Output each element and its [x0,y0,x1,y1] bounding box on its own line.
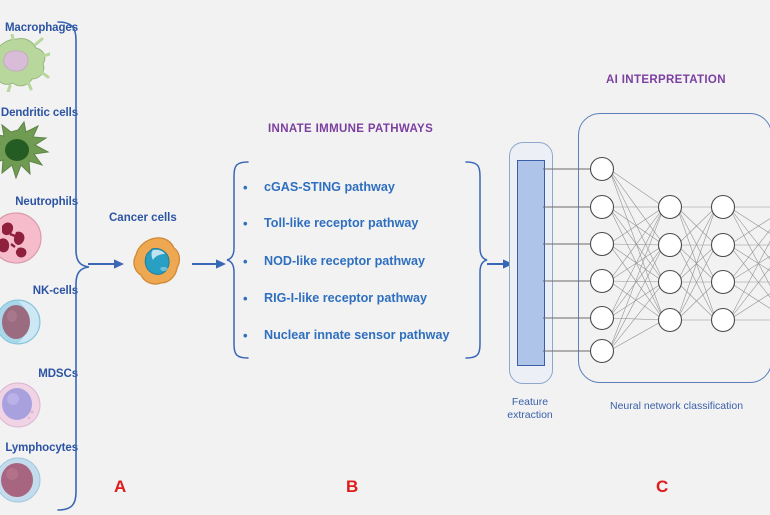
feature-extraction-label-line2: extraction [507,409,553,421]
cancer-cells-label: Cancer cells [109,212,177,224]
arrow-cells-to-cancer [88,256,124,272]
lymphocyte-cell-icon [0,455,46,507]
pathway-item-nuclear-innate-sensor: Nuclear innate sensor pathway [264,328,449,342]
dendritic-cell-icon [0,120,50,182]
feature-extraction-label-line1: Feature [512,396,548,408]
neutrophil-cell-icon [0,210,48,266]
pathway-item-toll-like-receptor: Toll-like receptor pathway [264,216,418,230]
feature-extraction-label: Feature extraction [500,396,560,421]
cancer-cell-icon [130,235,182,287]
pathway-bullet-3: • [243,254,248,269]
nk-cell-icon [0,297,46,347]
ai-interpretation-heading: AI INTERPRETATION [606,74,726,86]
mdsc-cell-icon [0,380,46,430]
pathway-item-nod-like-receptor: NOD-like receptor pathway [264,254,425,268]
pathways-brace-right [464,160,488,360]
neural-network-graph [540,150,770,365]
pathway-bullet-5: • [243,328,248,343]
pathway-item-rig-i-like-receptor: RIG-I-like receptor pathway [264,291,427,305]
innate-immune-pathways-heading: INNATE IMMUNE PATHWAYS [268,123,433,135]
figure-canvas: Macrophages Dendritic cells Neutrophils [0,0,770,515]
panel-caption-c: C [656,477,668,497]
panel-caption-a: A [114,477,126,497]
pathway-item-cgas-sting: cGAS-STING pathway [264,180,395,194]
neural-network-label: Neural network classification [610,400,743,413]
macrophage-cell-icon [0,34,50,92]
pathway-bullet-4: • [243,291,248,306]
arrow-cancer-to-pathways [192,256,226,272]
pathway-bullet-1: • [243,180,248,195]
panel-caption-b: B [346,477,358,497]
pathway-bullet-2: • [243,216,248,231]
